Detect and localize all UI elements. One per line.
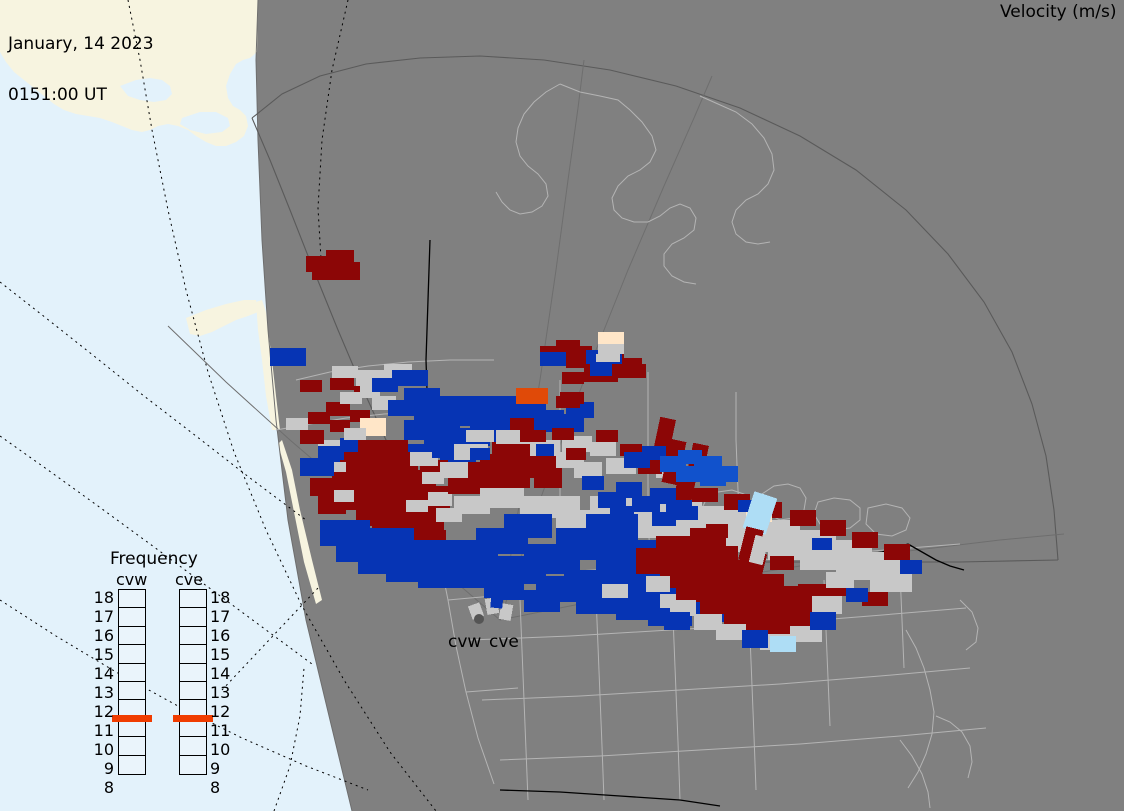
radar-map-canvas: January, 14 2023 0151:00 UT cvw cve Velo… xyxy=(0,0,1124,811)
site-label-cvw: cvw xyxy=(448,632,481,652)
radar-site-marker xyxy=(474,614,484,624)
timestamp-time: 0151:00 UT xyxy=(8,87,154,104)
velocity-legend: Velocity (m/s) 500 400 300 200 100 0 -10… xyxy=(980,0,1124,330)
site-label-cve: cve xyxy=(489,632,519,652)
velocity-legend-title: Velocity (m/s) xyxy=(1000,2,1117,22)
timestamp-date: January, 14 2023 xyxy=(8,36,154,53)
map-background xyxy=(0,0,1124,811)
timestamp-block: January, 14 2023 0151:00 UT xyxy=(8,2,154,138)
